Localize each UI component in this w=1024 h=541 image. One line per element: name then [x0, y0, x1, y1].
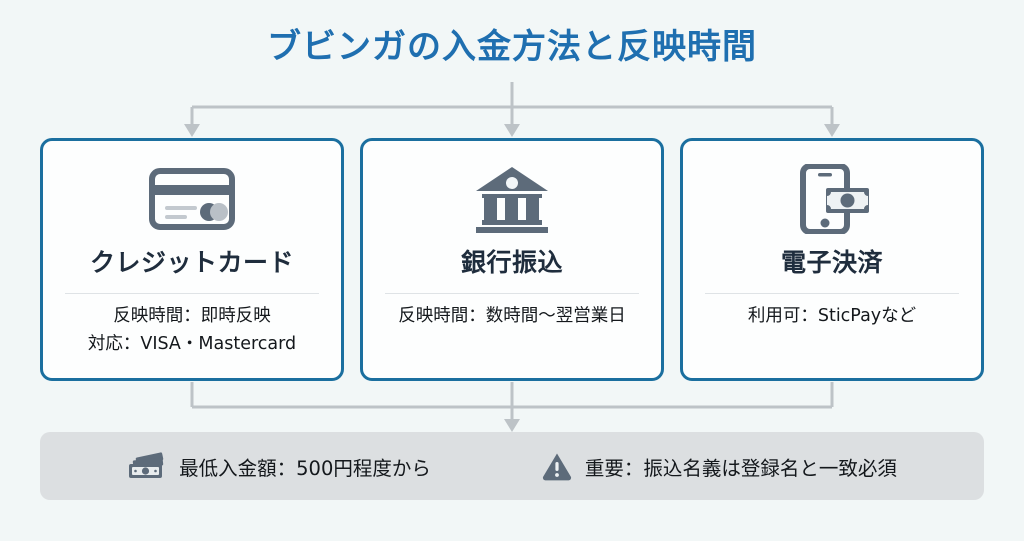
page-title: ブビンガの入金方法と反映時間	[267, 19, 757, 68]
card-detail-list: 利用可：SticPayなど	[748, 306, 916, 328]
arrowhead-card-1	[184, 124, 200, 137]
card-electronic-payment[interactable]: 電子決済 利用可：SticPayなど	[680, 138, 984, 381]
mobile-payment-icon	[793, 163, 871, 235]
arrowhead-card-2	[504, 124, 520, 137]
card-title: 銀行振込	[461, 243, 563, 279]
arrowhead-footer	[504, 419, 520, 432]
footer-item-important-notice: 重要：振込名義は登録名と一致必須	[541, 451, 897, 481]
footer-item-text: 最低入金額：500円程度から	[179, 452, 431, 481]
card-detail-line: 反映時間：数時間〜翌営業日	[398, 306, 626, 328]
card-detail-line: 対応：VISA・Mastercard	[88, 334, 296, 356]
footer-item-text: 重要：振込名義は登録名と一致必須	[585, 452, 897, 481]
card-detail-list: 反映時間：即時反映 対応：VISA・Mastercard	[88, 306, 296, 356]
card-title: クレジットカード	[90, 243, 294, 279]
card-detail-list: 反映時間：数時間〜翌営業日	[398, 306, 626, 328]
card-credit-card[interactable]: クレジットカード 反映時間：即時反映 対応：VISA・Mastercard	[40, 138, 344, 381]
footer-notes-bar: 最低入金額：500円程度から 重要：振込名義は登録名と一致必須	[40, 432, 984, 500]
cash-stack-icon	[127, 451, 167, 481]
card-detail-line: 反映時間：即時反映	[113, 306, 271, 328]
credit-card-icon	[149, 163, 235, 235]
card-title: 電子決済	[781, 243, 883, 279]
card-divider	[65, 293, 319, 294]
payment-methods-row: クレジットカード 反映時間：即時反映 対応：VISA・Mastercard 銀行…	[40, 138, 984, 381]
card-bank-transfer[interactable]: 銀行振込 反映時間：数時間〜翌営業日	[360, 138, 664, 381]
footer-item-minimum-deposit: 最低入金額：500円程度から	[127, 451, 431, 481]
arrowhead-card-3	[824, 124, 840, 137]
card-divider	[705, 293, 959, 294]
bank-building-icon	[474, 163, 550, 235]
title-bar: ブビンガの入金方法と反映時間	[0, 0, 1024, 86]
warning-triangle-icon	[541, 451, 573, 481]
card-detail-line: 利用可：SticPayなど	[748, 306, 916, 328]
card-divider	[385, 293, 639, 294]
